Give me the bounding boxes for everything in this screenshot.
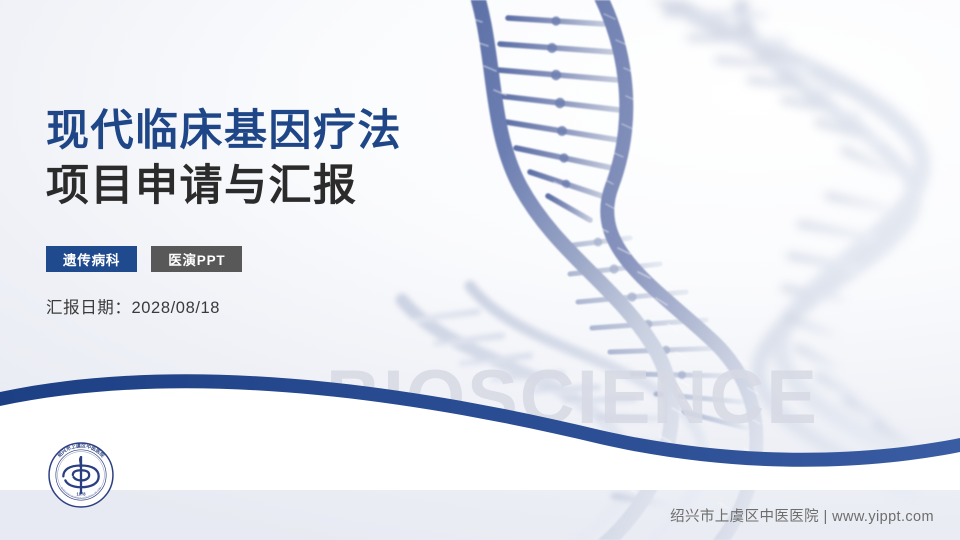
page-title-line-1: 现代临床基因疗法 bbox=[46, 104, 526, 159]
footer-text: 绍兴市上虞区中医医院 | www.yippt.com bbox=[670, 505, 934, 526]
title-block: 现代临床基因疗法 项目申请与汇报 遗传病科 医演PPT 汇报日期：2028/08… bbox=[46, 104, 526, 318]
page-title-line-2: 项目申请与汇报 bbox=[46, 159, 526, 214]
hospital-seal-logo: 绍兴市上虞区中医医院 SHAOXING SHANGYU HOSPITAL OF … bbox=[47, 441, 115, 509]
badge-group: 遗传病科 医演PPT bbox=[46, 246, 526, 272]
department-badge: 遗传病科 bbox=[46, 246, 137, 272]
brand-badge: 医演PPT bbox=[151, 246, 242, 272]
blue-wave-ribbon bbox=[0, 330, 960, 490]
presentation-title-slide: BIOSCIENCE 现代临床基因疗法 项目申请与汇报 遗传病科 医演PPT 汇… bbox=[0, 0, 960, 540]
svg-text:1978: 1978 bbox=[76, 492, 86, 497]
report-date: 汇报日期：2028/08/18 bbox=[46, 294, 526, 318]
